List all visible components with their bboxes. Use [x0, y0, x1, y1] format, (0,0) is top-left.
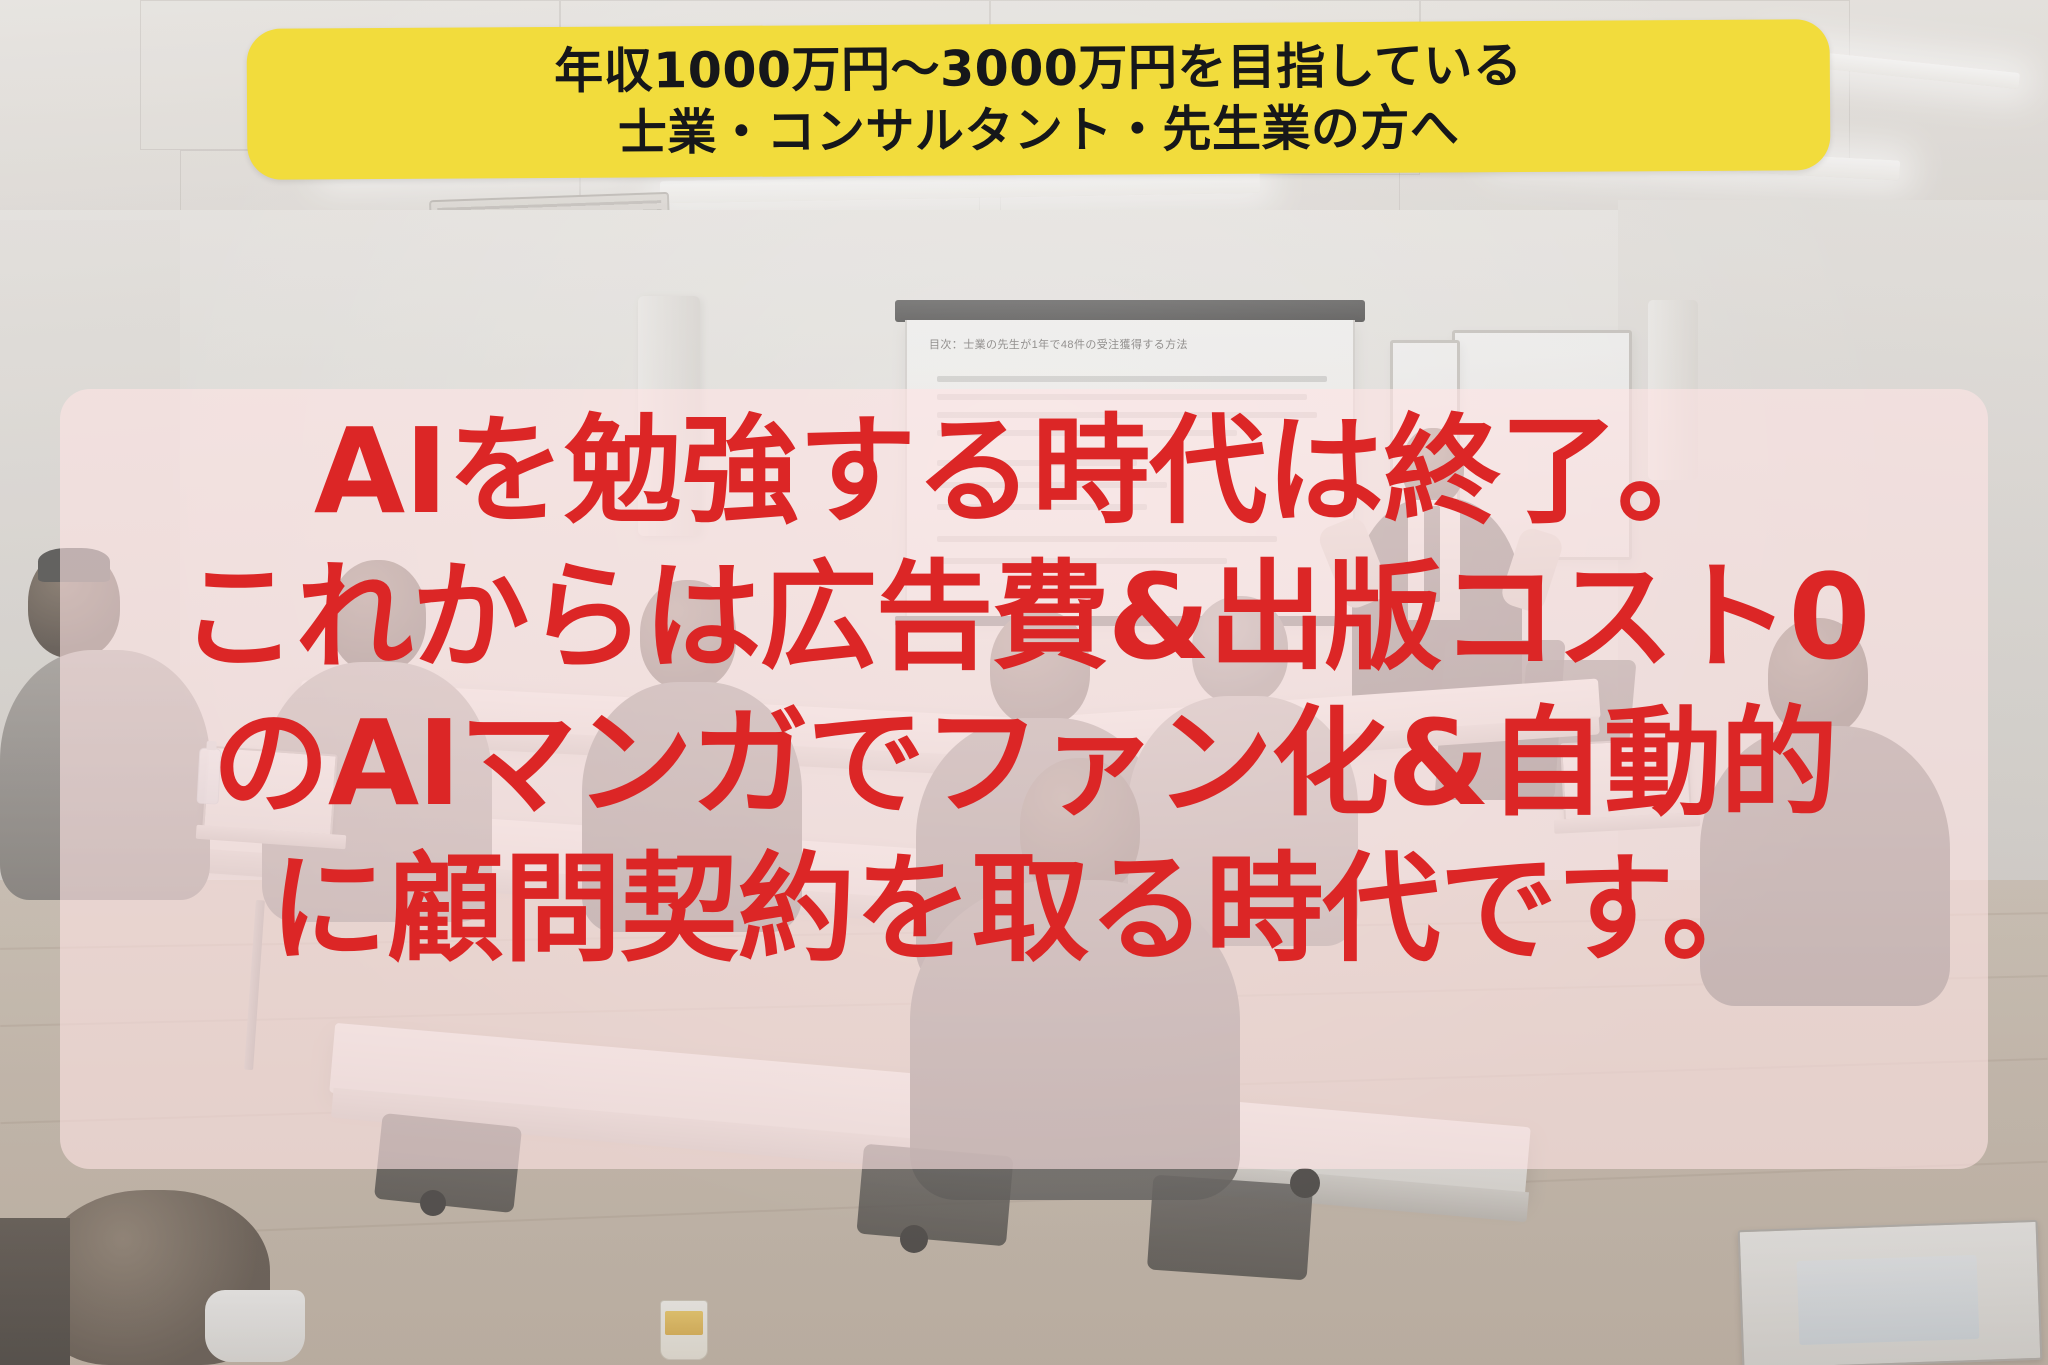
headline-line-4: に顧問契約を取る時代です。 — [0, 836, 2048, 982]
headline-line-1: AIを勉強する時代は終了。 — [0, 398, 2048, 544]
banner-line-2: 士業・コンサルタント・先生業の方へ — [618, 97, 1460, 164]
headline-block: AIを勉強する時代は終了。 これからは広告費&出版コスト0 のAIマンガでファン… — [0, 398, 2048, 982]
poster-root: 目次：士業の先生が1年で48件の受注獲得する方法 — [0, 0, 2048, 1365]
headline-line-3: のAIマンガでファン化&自動的 — [0, 690, 2048, 836]
top-banner: 年収1000万円〜3000万円を目指している 士業・コンサルタント・先生業の方へ — [247, 19, 1831, 180]
banner-line-1: 年収1000万円〜3000万円を目指している — [554, 35, 1523, 103]
headline-line-2: これからは広告費&出版コスト0 — [0, 544, 2048, 690]
